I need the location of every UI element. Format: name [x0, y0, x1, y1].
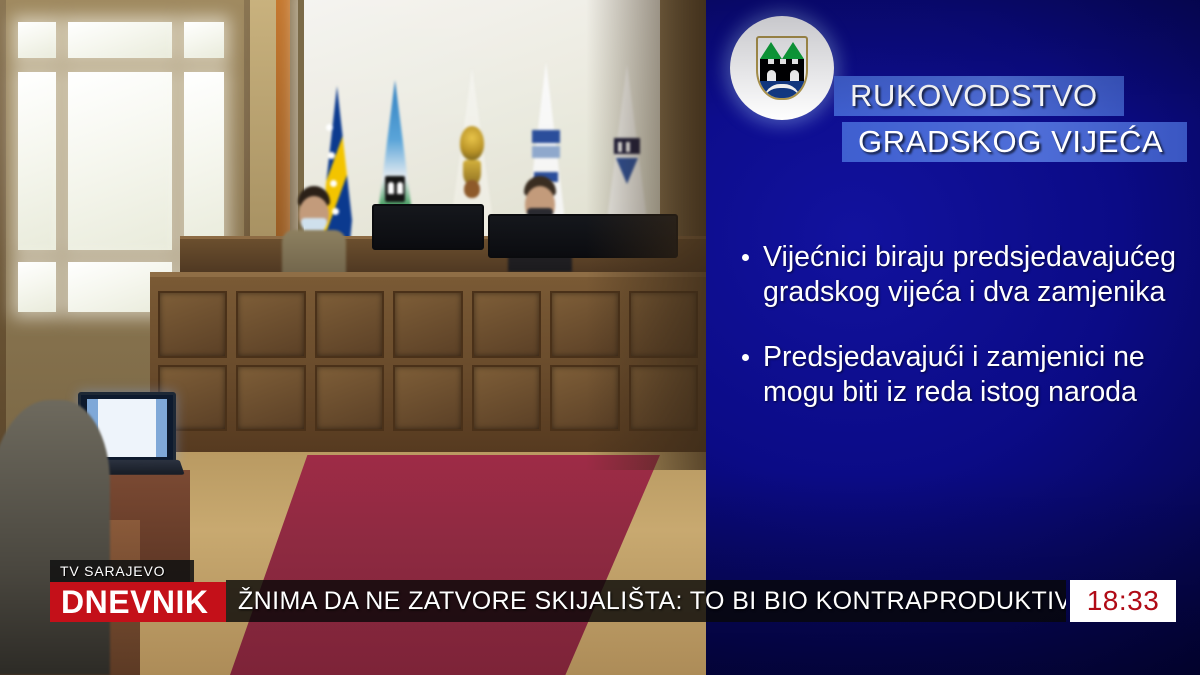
window-pane: [68, 22, 172, 58]
info-panel: RUKOVODSTVO GRADSKOG VIJEĆA Vijećnici bi…: [706, 0, 1200, 675]
window-pane: [184, 22, 224, 58]
window-pane: [184, 72, 224, 250]
monitor-left: [372, 204, 484, 250]
sarajevo-coat-of-arms-icon: [730, 16, 834, 120]
list-item: Vijećnici biraju predsjedavajućeg gradsk…: [736, 240, 1188, 310]
clock-box: 18:33: [1070, 580, 1176, 622]
bullet-dot-icon: [742, 254, 749, 261]
foreground-person: [0, 400, 110, 675]
bullet-text: Vijećnici biraju predsjedavajućeg gradsk…: [763, 240, 1188, 310]
panel-title-line2: GRADSKOG VIJEĆA: [842, 124, 1163, 160]
title-bar-line2: GRADSKOG VIJEĆA: [842, 122, 1187, 162]
clock-time: 18:33: [1087, 585, 1160, 617]
window-pane: [18, 262, 56, 312]
list-item: Predsjedavajući i zamjenici ne mogu biti…: [736, 340, 1188, 410]
wall-shadow: [586, 0, 706, 470]
bullet-dot-icon: [742, 354, 749, 361]
panel-title-line1: RUKOVODSTVO: [834, 78, 1098, 114]
ticker-text: ŽNIMA DA NE ZATVORE SKIJALIŠTA: TO BI BI…: [226, 587, 1066, 616]
bullet-list: Vijećnici biraju predsjedavajućeg gradsk…: [736, 240, 1188, 440]
show-name-bar: DNEVNIK: [50, 582, 226, 622]
show-name: DNEVNIK: [50, 584, 209, 621]
bullet-text: Predsjedavajući i zamjenici ne mogu biti…: [763, 340, 1188, 410]
castle-icon: [760, 59, 804, 81]
window-pane: [18, 72, 56, 250]
broadcast-screen: RUKOVODSTVO GRADSKOG VIJEĆA Vijećnici bi…: [0, 0, 1200, 675]
mountain-icon: [782, 42, 804, 59]
window-pane: [68, 72, 172, 250]
channel-name: TV SARAJEVO: [50, 563, 165, 579]
window-pane: [18, 22, 56, 58]
title-bar-line1: RUKOVODSTVO: [834, 76, 1124, 116]
channel-name-bar: TV SARAJEVO: [50, 560, 194, 582]
news-ticker: ŽNIMA DA NE ZATVORE SKIJALIŠTA: TO BI BI…: [226, 580, 1066, 622]
mountain-icon: [760, 42, 782, 59]
shield-shape: [756, 36, 808, 100]
